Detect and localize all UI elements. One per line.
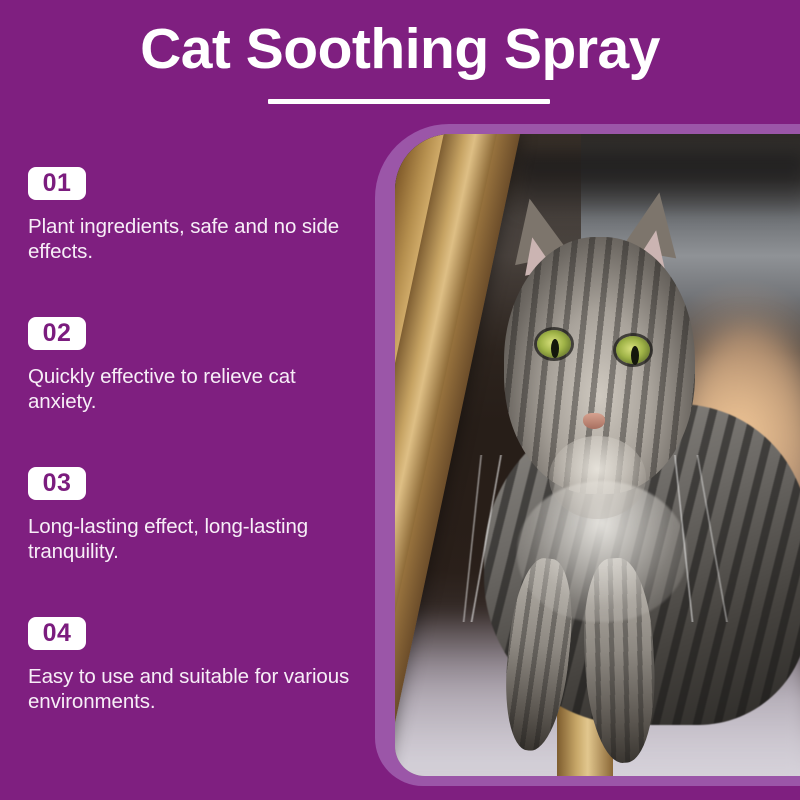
feature-item-04: 04 Easy to use and suitable for various … bbox=[28, 617, 368, 714]
cat-illustration bbox=[395, 134, 800, 776]
feature-item-03: 03 Long-lasting effect, long-lasting tra… bbox=[28, 467, 368, 564]
title-underline-divider bbox=[268, 99, 550, 104]
feature-description: Long-lasting effect, long-lasting tranqu… bbox=[28, 514, 364, 564]
page-title: Cat Soothing Spray bbox=[0, 14, 800, 84]
feature-number-badge: 03 bbox=[28, 467, 86, 500]
feature-description: Easy to use and suitable for various env… bbox=[28, 664, 364, 714]
cat-pupil-right bbox=[631, 346, 639, 365]
product-photo bbox=[395, 134, 800, 776]
feature-item-02: 02 Quickly effective to relieve cat anxi… bbox=[28, 317, 368, 414]
poster-header: Cat Soothing Spray bbox=[0, 0, 800, 124]
feature-number-badge: 01 bbox=[28, 167, 86, 200]
feature-item-01: 01 Plant ingredients, safe and no side e… bbox=[28, 167, 368, 264]
feature-number-badge: 04 bbox=[28, 617, 86, 650]
cat-whiskers bbox=[395, 455, 800, 622]
product-feature-poster: Cat Soothing Spray bbox=[0, 0, 800, 800]
feature-description: Plant ingredients, safe and no side effe… bbox=[28, 214, 364, 264]
feature-number-badge: 02 bbox=[28, 317, 86, 350]
photo-background bbox=[395, 134, 800, 776]
feature-description: Quickly effective to relieve cat anxiety… bbox=[28, 364, 364, 414]
